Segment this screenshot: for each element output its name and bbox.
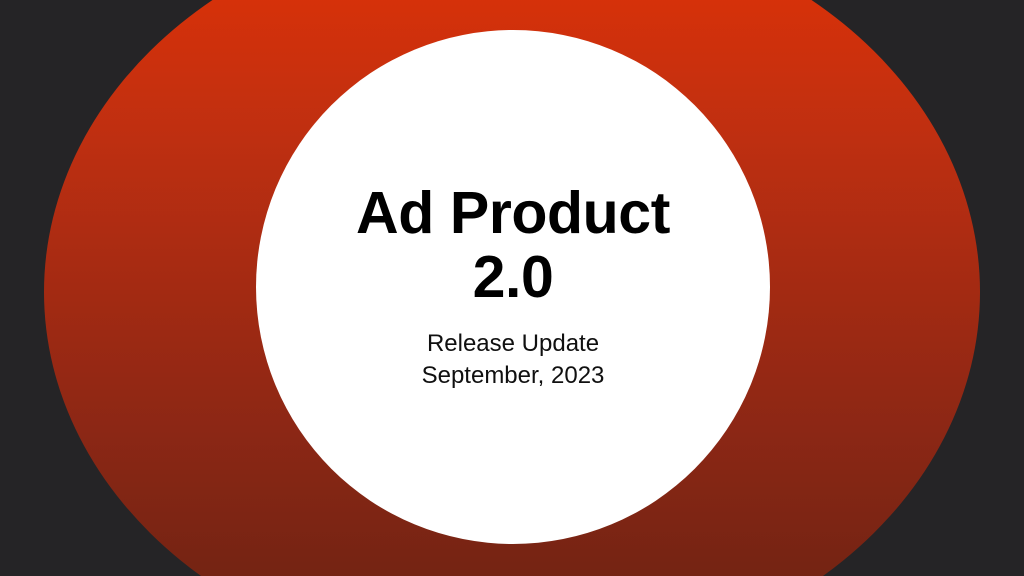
subtitle-line-release: Release Update	[422, 328, 605, 360]
subtitle-line-date: September, 2023	[422, 360, 605, 392]
title-text-block: Ad Product 2.0 Release Update September,…	[256, 30, 770, 544]
title-slide: Ad Product 2.0 Release Update September,…	[0, 0, 1024, 576]
slide-subtitle: Release Update September, 2023	[422, 328, 605, 392]
page-title: Ad Product 2.0	[313, 182, 713, 309]
